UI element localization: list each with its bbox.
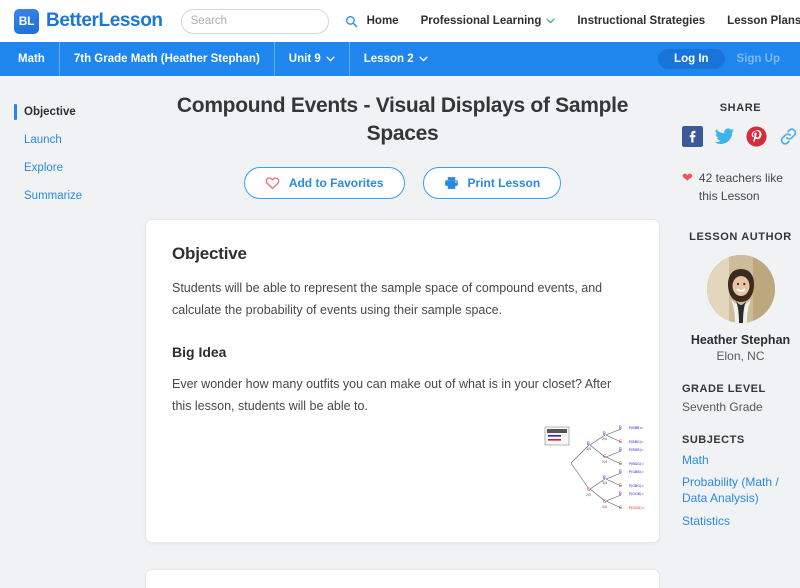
subject-link-probability[interactable]: Probability (Math / Data Analysis)	[682, 474, 799, 506]
svg-text:P(BBG)=: P(BBG)=	[629, 440, 644, 444]
likes-text: 42 teachers like this Lesson	[699, 169, 799, 205]
lesson-section-nav: Objective Launch Explore Summarize	[0, 76, 145, 588]
svg-text:B: B	[603, 475, 606, 480]
sidebar-item-explore[interactable]: Explore	[14, 159, 145, 177]
svg-text:B: B	[603, 431, 606, 436]
avatar[interactable]	[707, 255, 775, 323]
svg-text:P(BBB)=: P(BBB)=	[629, 426, 644, 430]
link-icon[interactable]	[778, 126, 799, 147]
breadcrumb-item-unit[interactable]: Unit 9	[275, 42, 350, 76]
print-lesson-button[interactable]: Print Lesson	[423, 167, 562, 199]
sidebar-item-objective[interactable]: Objective	[14, 103, 145, 121]
signup-button[interactable]: Sign Up	[731, 49, 786, 69]
subject-link-statistics[interactable]: Statistics	[682, 513, 799, 529]
svg-text:2/5: 2/5	[586, 493, 591, 497]
login-button[interactable]: Log In	[658, 49, 725, 69]
breadcrumb-label: Math	[18, 53, 45, 65]
svg-text:B: B	[619, 469, 622, 474]
grade-level-label: GRADE LEVEL	[682, 383, 799, 395]
main-content: Compound Events - Visual Displays of Sam…	[145, 76, 660, 588]
lesson-author-label: LESSON AUTHOR	[682, 231, 799, 243]
svg-text:G: G	[619, 505, 622, 510]
svg-text:3/4: 3/4	[602, 481, 607, 485]
main-nav: Home Professional Learning Instructional…	[367, 15, 800, 27]
pinterest-icon[interactable]	[746, 126, 767, 147]
page-body: Objective Launch Explore Summarize Compo…	[0, 76, 800, 588]
next-section-card	[145, 569, 660, 588]
probability-tree-diagram-image[interactable]: B G B G B G B G B G B G B G 3/52/5	[537, 415, 660, 520]
action-row: Add to Favorites Print Lesson	[145, 167, 660, 199]
printer-icon	[444, 176, 459, 190]
svg-text:P(BGG)=: P(BGG)=	[629, 462, 644, 466]
share-icons	[682, 126, 799, 147]
breadcrumb-bar: Math 7th Grade Math (Heather Stephan) Un…	[0, 42, 800, 76]
breadcrumb: Math 7th Grade Math (Heather Stephan) Un…	[14, 42, 442, 76]
nav-item-home[interactable]: Home	[367, 15, 399, 27]
nav-item-professional-learning[interactable]: Professional Learning	[421, 15, 556, 27]
lesson-sidebar: SHARE ❤ 42 teachers like this L	[660, 76, 800, 588]
search-input[interactable]	[191, 15, 345, 27]
breadcrumb-item-math[interactable]: Math	[14, 42, 60, 76]
logo[interactable]: BL BetterLesson	[14, 9, 163, 34]
button-label: Print Lesson	[468, 176, 541, 190]
nav-item-instructional-strategies[interactable]: Instructional Strategies	[577, 15, 705, 27]
breadcrumb-label: Lesson 2	[364, 53, 414, 65]
chevron-down-icon	[326, 56, 335, 62]
breadcrumb-item-lesson[interactable]: Lesson 2	[350, 42, 442, 76]
logo-text: BetterLesson	[46, 10, 163, 32]
svg-text:G: G	[619, 461, 622, 466]
avatar-image	[707, 255, 775, 323]
svg-text:B: B	[619, 447, 622, 452]
breadcrumb-label: 7th Grade Math (Heather Stephan)	[74, 53, 260, 65]
author-location: Elon, NC	[682, 349, 799, 363]
page-title: Compound Events - Visual Displays of Sam…	[145, 76, 660, 147]
nav-item-label: Lesson Plans	[727, 15, 800, 27]
card-heading: Objective	[172, 244, 633, 264]
search-icon[interactable]	[345, 15, 358, 28]
svg-text:G: G	[603, 499, 606, 504]
facebook-icon[interactable]	[682, 126, 703, 147]
add-to-favorites-button[interactable]: Add to Favorites	[244, 167, 405, 199]
svg-text:P(GBG)=: P(GBG)=	[629, 484, 644, 488]
svg-text:3/5: 3/5	[586, 447, 591, 451]
sidebar-item-summarize[interactable]: Summarize	[14, 187, 145, 205]
top-header: BL BetterLesson Home Professional Learni…	[0, 0, 800, 42]
heart-filled-icon: ❤	[682, 169, 693, 205]
svg-text:P(GGG)=: P(GGG)=	[629, 506, 645, 510]
svg-text:P(GBB)=: P(GBB)=	[629, 470, 644, 474]
svg-text:G: G	[619, 439, 622, 444]
svg-text:B: B	[619, 425, 622, 430]
nav-item-label: Professional Learning	[421, 15, 542, 27]
objective-text: Students will be able to represent the s…	[172, 278, 633, 322]
big-idea-heading: Big Idea	[172, 344, 633, 360]
breadcrumb-label: Unit 9	[289, 53, 321, 65]
svg-text:P(BGB)=: P(BGB)=	[629, 448, 644, 452]
subject-link-math[interactable]: Math	[682, 452, 799, 468]
sidebar-item-launch[interactable]: Launch	[14, 131, 145, 149]
nav-item-label: Home	[367, 15, 399, 27]
chevron-down-icon	[546, 18, 555, 24]
button-label: Add to Favorites	[289, 176, 384, 190]
svg-text:B: B	[587, 441, 590, 446]
twitter-icon[interactable]	[714, 126, 735, 147]
nav-item-lesson-plans[interactable]: Lesson Plans	[727, 15, 800, 27]
auth-group: Log In Sign Up	[658, 42, 786, 76]
big-idea-text: Ever wonder how many outfits you can mak…	[172, 374, 633, 418]
svg-text:1/4: 1/4	[602, 505, 607, 509]
svg-text:G: G	[603, 454, 606, 459]
share-label: SHARE	[682, 102, 799, 114]
breadcrumb-item-course[interactable]: 7th Grade Math (Heather Stephan)	[60, 42, 275, 76]
nav-item-label: Instructional Strategies	[577, 15, 705, 27]
subjects-label: SUBJECTS	[682, 434, 799, 446]
heart-outline-icon	[265, 176, 280, 190]
svg-text:B: B	[619, 491, 622, 496]
author-name[interactable]: Heather Stephan	[682, 333, 799, 347]
svg-text:G: G	[587, 487, 590, 492]
svg-text:2/4: 2/4	[602, 460, 607, 464]
search-box[interactable]	[181, 9, 329, 34]
likes-row: ❤ 42 teachers like this Lesson	[682, 169, 799, 205]
svg-text:P(GGB)=: P(GGB)=	[629, 492, 644, 496]
svg-text:2/4: 2/4	[602, 437, 607, 441]
logo-mark-icon: BL	[14, 9, 39, 34]
svg-text:G: G	[619, 483, 622, 488]
chevron-down-icon	[419, 56, 428, 62]
objective-card: Objective Students will be able to repre…	[145, 219, 660, 543]
grade-level-value: Seventh Grade	[682, 400, 799, 414]
